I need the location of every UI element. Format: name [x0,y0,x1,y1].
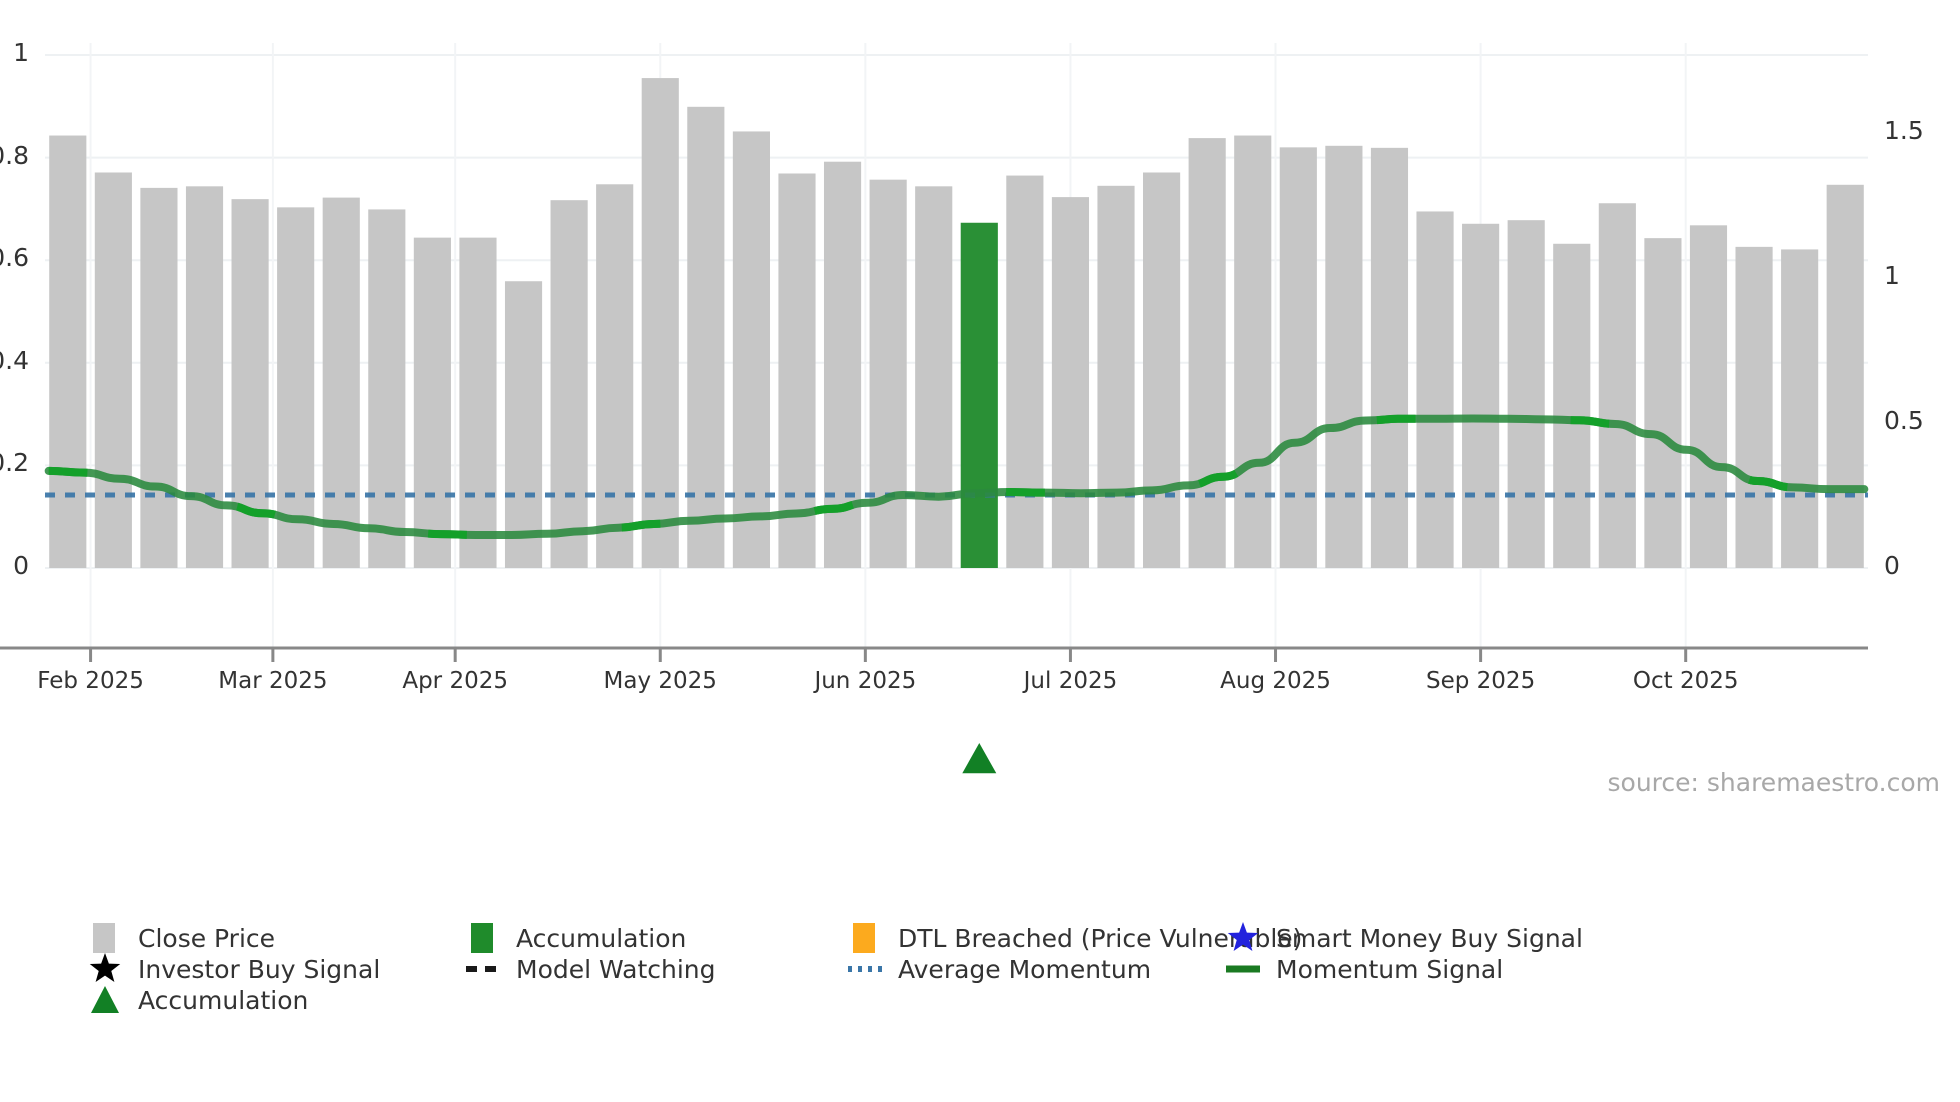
close-price-bar [1599,203,1636,568]
close-price-bar [1827,185,1864,568]
x-axis-tick-label: Mar 2025 [218,668,327,694]
close-price-bar [1325,146,1362,568]
legend-label: Momentum Signal [1276,955,1503,984]
close-price-bar [1553,244,1590,568]
legend-label: Model Watching [516,955,716,984]
close-price-bar [733,131,770,568]
right-axis-tick-label: 1 [1884,261,1900,290]
momentum-signal-markers [49,418,1865,535]
close-price-bar [323,198,360,568]
close-price-bar [1189,138,1226,568]
solid-line [1226,952,1260,986]
close-price-bar [1781,249,1818,568]
close-price-bar [49,136,86,568]
close-price-bar [95,172,132,568]
close-price-bar [1508,220,1545,568]
legend-swatch [88,980,122,1020]
close-price-bar [186,186,223,568]
x-axis-tick-label: Feb 2025 [37,668,144,694]
x-axis-tick-label: Oct 2025 [1633,668,1739,694]
x-axis-tick-label: May 2025 [604,668,717,694]
left-axis-tick-label: 0.6 [0,243,29,272]
legend-swatch [848,949,882,989]
left-axis-tick-label: 0 [13,551,29,580]
close-price-bar [1052,197,1089,568]
chart-container: 00.20.40.60.81 00.511.5 Feb 2025Mar 2025… [0,0,1960,1102]
close-price-bar [1097,186,1134,568]
x-axis-tick-label: Sep 2025 [1426,668,1535,694]
x-axis-tick-label: Jun 2025 [814,668,916,694]
close-price-bar [140,188,177,568]
triangle-icon [88,983,122,1017]
close-price-bar [414,238,451,568]
legend-swatch [466,949,500,989]
close-price-bar [1234,136,1271,568]
close-price-bar [1371,148,1408,568]
close-price-bar [1143,172,1180,568]
close-price-bar [687,107,724,568]
left-axis-tick-label: 0.2 [0,448,29,477]
close-price-bar [1644,238,1681,568]
close-price-bar [1280,147,1317,568]
chart-legend: Close PriceAccumulationDTL Breached (Pri… [0,918,1960,1098]
legend-item[interactable]: Average Momentum [848,949,1151,989]
accumulation-triangle-marker [962,743,996,773]
close-price-bar [1690,225,1727,568]
right-axis-tick-label: 1.5 [1884,116,1924,145]
legend-item[interactable]: Accumulation [88,980,308,1020]
accumulation-bar [961,223,998,568]
source-annotation: source: sharemaestro.com [1608,768,1941,797]
right-axis-tick-label: 0.5 [1884,406,1924,435]
dashed-line [466,952,500,986]
x-axis-tick-label: Aug 2025 [1220,668,1331,694]
close-price-bar [596,184,633,568]
close-price-bar [1735,247,1772,568]
legend-item[interactable]: Momentum Signal [1226,949,1503,989]
legend-swatch [1226,949,1260,989]
close-price-bar [1462,224,1499,568]
close-price-bar [870,180,907,568]
close-price-bar [505,281,542,568]
right-axis-tick-label: 0 [1884,551,1900,580]
close-price-bar [915,186,952,568]
legend-label: Average Momentum [898,955,1151,984]
close-price-bar [368,209,405,568]
close-price-bar [1006,176,1043,568]
legend-label: Accumulation [138,986,308,1015]
left-axis-tick-label: 0.4 [0,346,29,375]
dotted-line [848,952,882,986]
legend-item[interactable]: Model Watching [466,949,716,989]
close-price-bar [1416,211,1453,568]
x-axis-tick-label: Apr 2025 [402,668,508,694]
x-axis-tick-label: Jul 2025 [1024,668,1118,694]
close-price-bar [459,238,496,568]
close-price-bar [551,200,588,568]
left-axis-tick-label: 0.8 [0,141,29,170]
momentum-signal-line [49,418,1865,535]
left-axis-tick-label: 1 [13,38,29,67]
